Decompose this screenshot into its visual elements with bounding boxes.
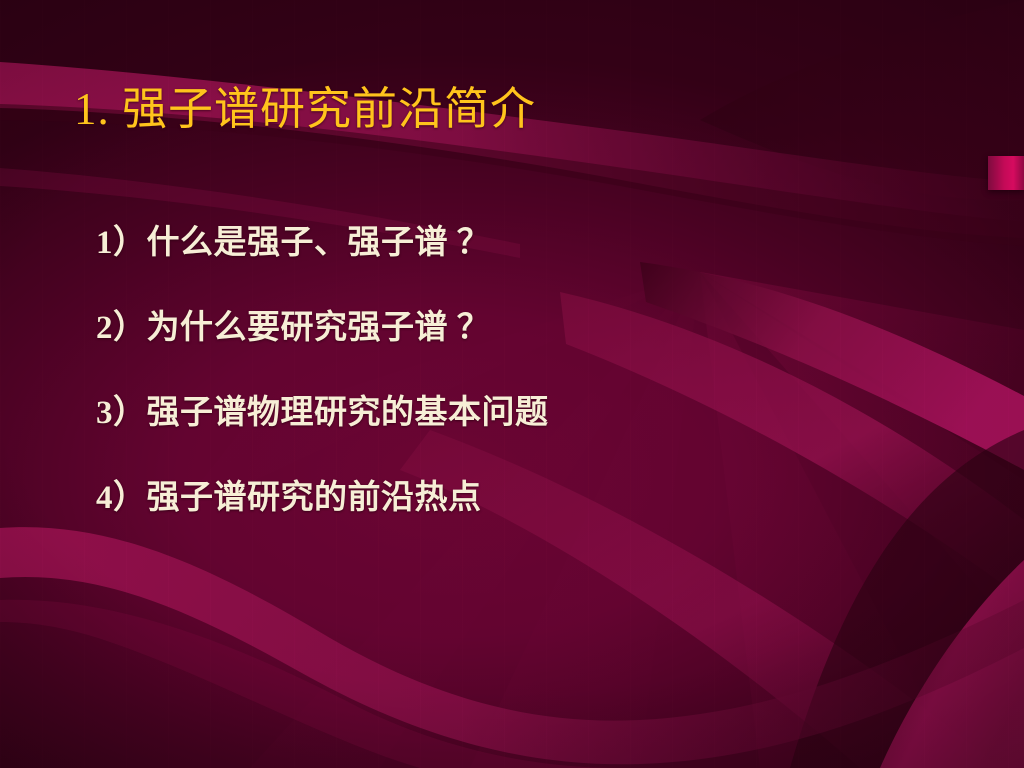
accent-tab	[988, 156, 1024, 190]
presentation-slide: 1. 强子谱研究前沿简介 1）什么是强子、强子谱 ？ 2）为什么要研究强子谱 ？…	[0, 0, 1024, 768]
list-item: 3）强子谱物理研究的基本问题	[96, 392, 956, 477]
slide-title: 1. 强子谱研究前沿简介	[74, 80, 536, 138]
list-item: 4）强子谱研究的前沿热点	[96, 477, 956, 562]
list-item: 1）什么是强子、强子谱 ？	[96, 222, 956, 307]
bullet-list: 1）什么是强子、强子谱 ？ 2）为什么要研究强子谱 ？ 3）强子谱物理研究的基本…	[96, 222, 956, 562]
list-item: 2）为什么要研究强子谱 ？	[96, 307, 956, 392]
